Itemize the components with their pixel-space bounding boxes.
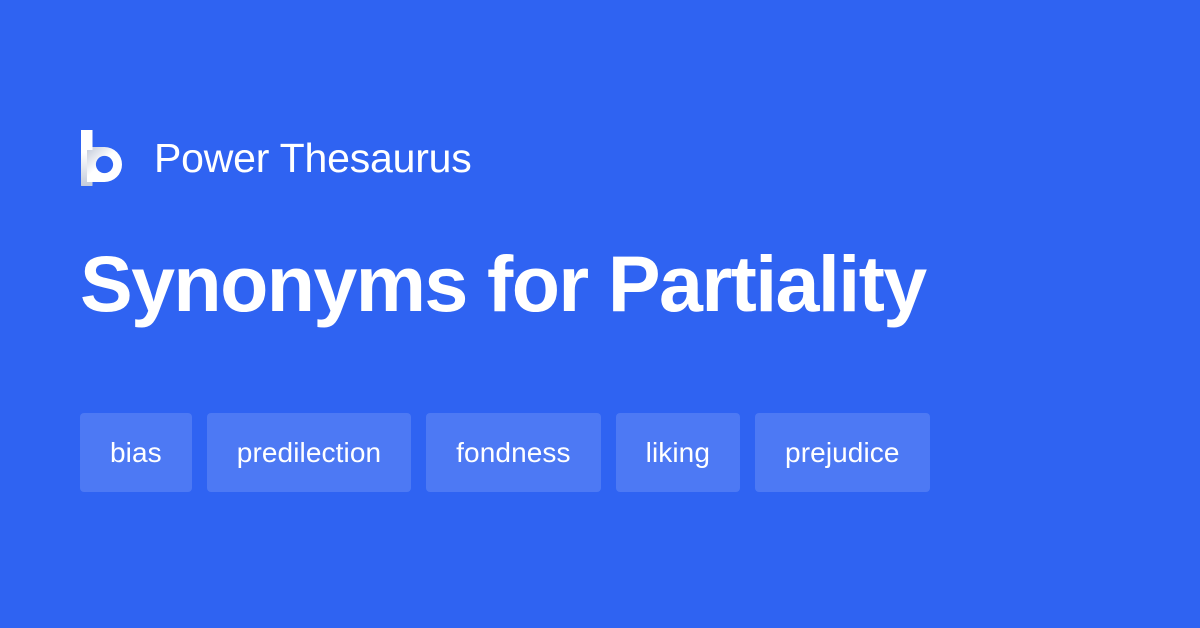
- synonym-chips-list: bias predilection fondness liking prejud…: [80, 413, 930, 492]
- social-preview-card: power thesaurus Synonyms for Partiality …: [0, 0, 1200, 628]
- brand-name: power thesaurus: [154, 138, 472, 179]
- power-thesaurus-b-logo-icon: [80, 130, 126, 186]
- brand-header[interactable]: power thesaurus: [80, 128, 472, 188]
- synonym-chip[interactable]: predilection: [207, 413, 411, 492]
- synonym-chip[interactable]: bias: [80, 413, 192, 492]
- synonym-chip[interactable]: liking: [616, 413, 740, 492]
- synonym-chip[interactable]: prejudice: [755, 413, 930, 492]
- synonym-chip[interactable]: fondness: [426, 413, 600, 492]
- page-title: Synonyms for Partiality: [80, 244, 926, 323]
